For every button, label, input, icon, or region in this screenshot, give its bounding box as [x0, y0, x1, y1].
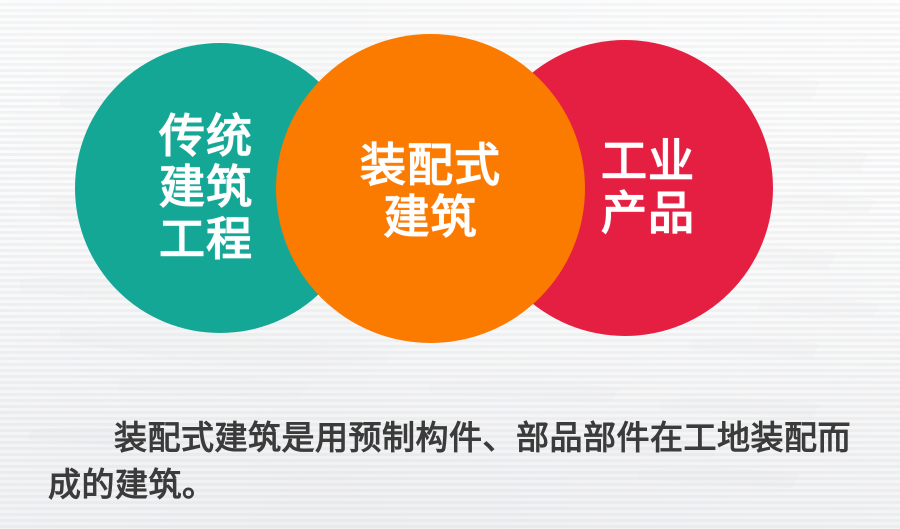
- circle-label-traditional-construction: 传统 建筑 工程: [159, 111, 253, 266]
- circle-label-industrial-product: 工业 产品: [601, 136, 695, 239]
- slide-canvas: 传统 建筑 工程 工业 产品 装配式 建筑 装配式建筑是用预制构件、部品部件在工…: [0, 0, 900, 529]
- circle-prefabricated-building: 装配式 建筑: [276, 34, 585, 343]
- caption-text: 装配式建筑是用预制构件、部品部件在工地装配而成的建筑。: [48, 415, 858, 509]
- circle-label-prefabricated-building: 装配式 建筑: [360, 140, 501, 243]
